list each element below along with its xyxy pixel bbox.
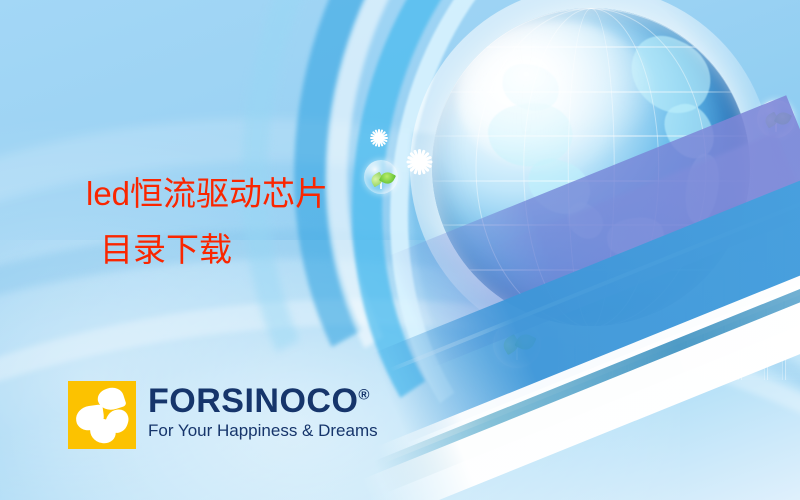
trademark-symbol: ® [358, 387, 370, 404]
slide-headline: led恒流驱动芯片 目录下载 [86, 166, 328, 278]
globe-sphere [432, 8, 750, 326]
slide-canvas: led恒流驱动芯片 目录下载 FORSINOCO® For Your Happi… [0, 0, 800, 500]
eco-bubble-large [493, 320, 541, 368]
brand-tagline: For Your Happiness & Dreams [148, 421, 378, 441]
globe-illustration [432, 8, 750, 326]
globe-rim [432, 8, 750, 326]
brand-name-text: FORSINOCO [148, 382, 358, 420]
headline-line-2: 目录下载 [86, 222, 328, 278]
brand-logo: FORSINOCO® For Your Happiness & Dreams [68, 381, 378, 449]
eco-bubble-corner [757, 100, 795, 138]
headline-line-1: led恒流驱动芯片 [86, 175, 328, 212]
brand-name: FORSINOCO® [148, 383, 378, 419]
brand-logo-text: FORSINOCO® For Your Happiness & Dreams [148, 381, 378, 441]
eco-bubble-small [364, 160, 398, 194]
pinwheel-flower-icon [68, 381, 136, 449]
